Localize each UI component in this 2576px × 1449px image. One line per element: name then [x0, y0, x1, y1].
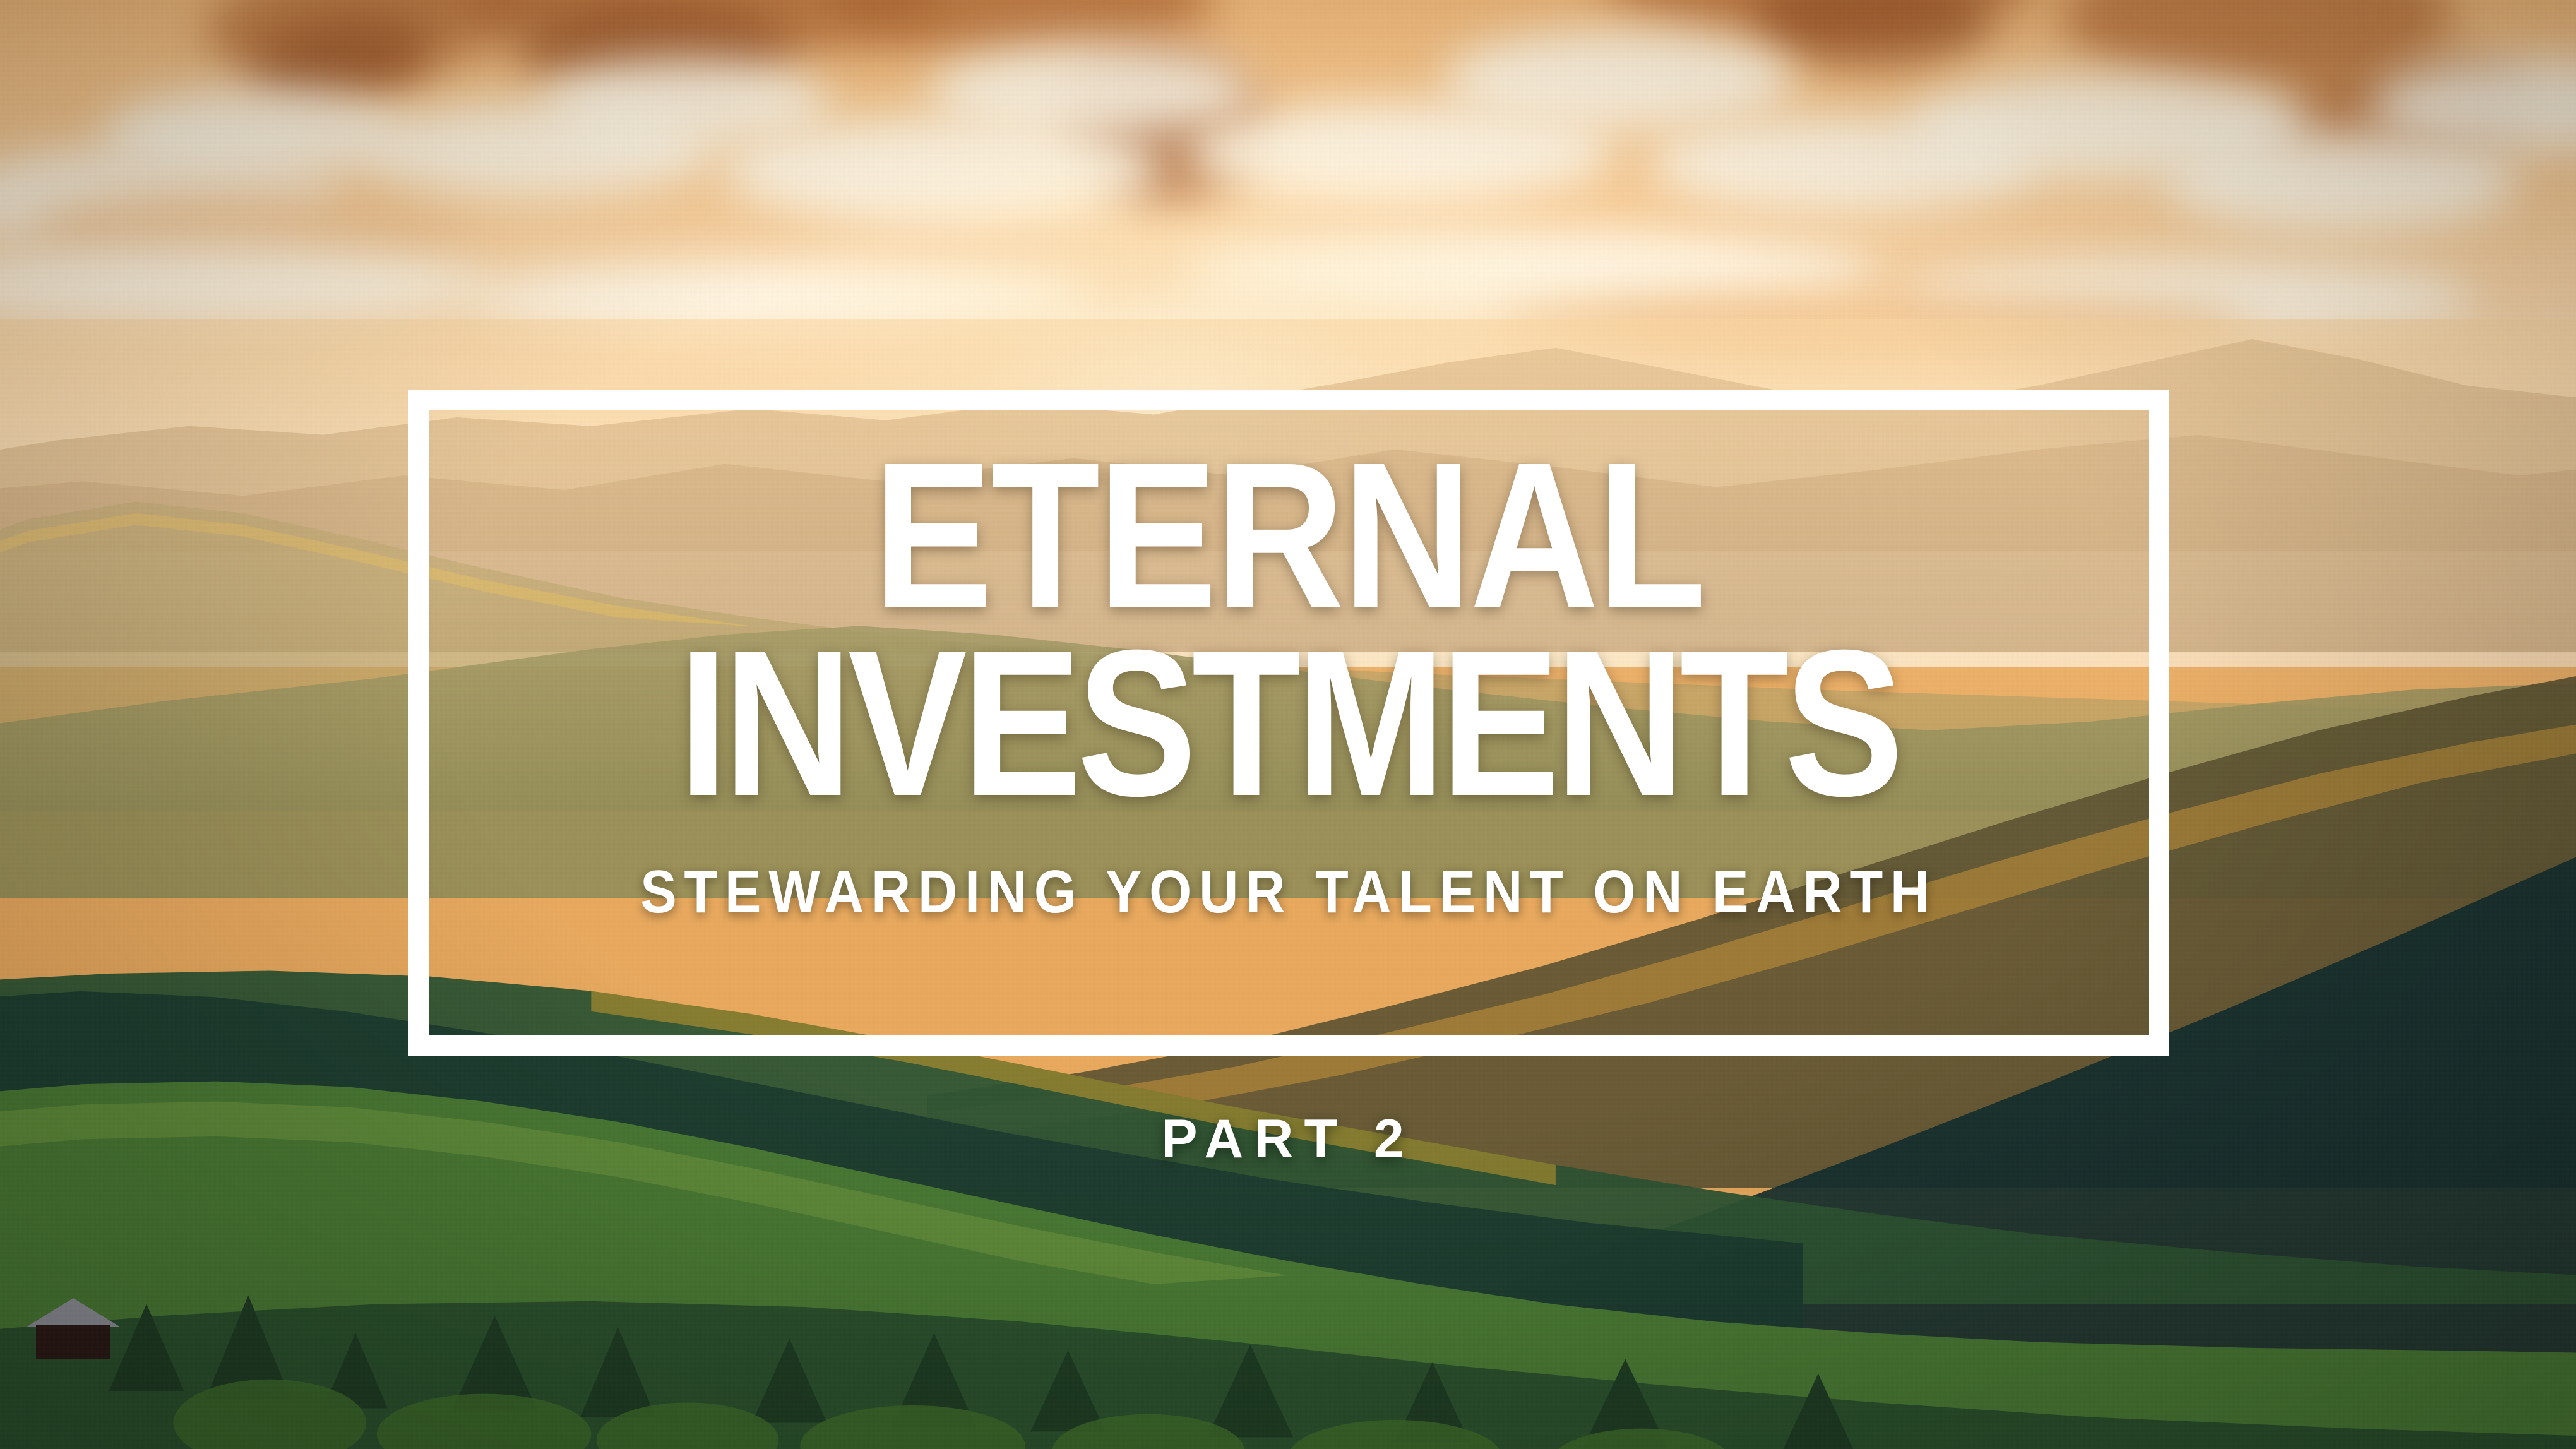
subtitle: STEWARDING YOUR TALENT ON EARTH [640, 857, 1937, 927]
cloud-light-8 [1443, 29, 1796, 130]
part-label: PART 2 [0, 1108, 2576, 1171]
barn-roof [26, 1298, 121, 1327]
barn-body [36, 1325, 110, 1359]
cloud-light-2 [103, 87, 406, 182]
title-line-1: ETERNAL [873, 450, 1704, 621]
title-line-2: INVESTMENTS [678, 638, 1899, 809]
barn-house [26, 1298, 121, 1359]
cloud-light-6 [927, 44, 1256, 138]
poster-canvas: ETERNAL INVESTMENTS STEWARDING YOUR TALE… [0, 0, 2576, 1449]
title-block: ETERNAL INVESTMENTS STEWARDING YOUR TALE… [408, 390, 2169, 1056]
